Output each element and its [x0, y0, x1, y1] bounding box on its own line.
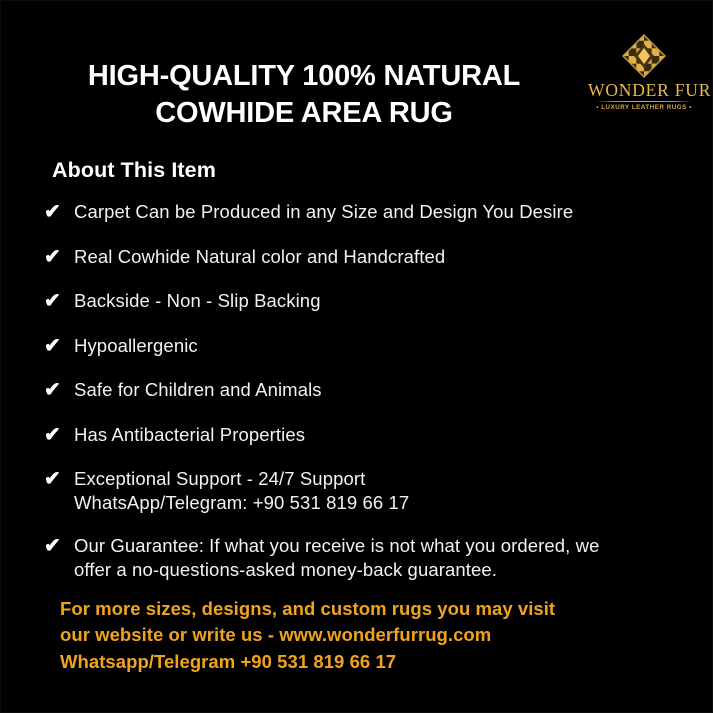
list-item: ✔ Real Cowhide Natural color and Handcra… [44, 245, 684, 270]
check-icon: ✔ [44, 423, 74, 448]
list-item: ✔ Has Antibacterial Properties [44, 423, 684, 448]
list-item-label: Our Guarantee: If what you receive is no… [74, 534, 600, 582]
page-title: HIGH-QUALITY 100% NATURAL COWHIDE AREA R… [40, 58, 568, 132]
logo-divider [596, 101, 692, 102]
list-item-label: Exceptional Support - 24/7 Support Whats… [74, 467, 409, 515]
check-icon: ✔ [44, 534, 74, 559]
check-icon: ✔ [44, 334, 74, 359]
list-item-label: Hypoallergenic [74, 334, 198, 358]
check-icon: ✔ [44, 378, 74, 403]
list-item: ✔ Safe for Children and Animals [44, 378, 684, 403]
list-item: ✔ Carpet Can be Produced in any Size and… [44, 200, 684, 225]
list-item-label: Backside - Non - Slip Backing [74, 289, 321, 313]
check-icon: ✔ [44, 467, 74, 492]
list-item-support: ✔ Exceptional Support - 24/7 Support Wha… [44, 467, 684, 515]
list-item-label: Has Antibacterial Properties [74, 423, 305, 447]
diamond-checker-logo-icon [621, 33, 667, 79]
check-icon: ✔ [44, 200, 74, 225]
check-icon: ✔ [44, 289, 74, 314]
list-item-guarantee: ✔ Our Guarantee: If what you receive is … [44, 534, 684, 582]
footer-contact-text: For more sizes, designs, and custom rugs… [60, 596, 680, 675]
list-item-label: Real Cowhide Natural color and Handcraft… [74, 245, 445, 269]
brand-logo: WONDER FUR • LUXURY LEATHER RUGS • [588, 33, 700, 111]
feature-list: ✔ Carpet Can be Produced in any Size and… [44, 200, 684, 601]
product-info-card: WONDER FUR • LUXURY LEATHER RUGS • HIGH-… [0, 0, 713, 713]
brand-tagline: • LUXURY LEATHER RUGS • [588, 104, 700, 111]
list-item-label: Carpet Can be Produced in any Size and D… [74, 200, 573, 224]
brand-name: WONDER FUR [588, 81, 700, 99]
list-item: ✔ Backside - Non - Slip Backing [44, 289, 684, 314]
list-item-label: Safe for Children and Animals [74, 378, 322, 402]
list-item: ✔ Hypoallergenic [44, 334, 684, 359]
check-icon: ✔ [44, 245, 74, 270]
about-this-item-heading: About This Item [52, 158, 216, 183]
